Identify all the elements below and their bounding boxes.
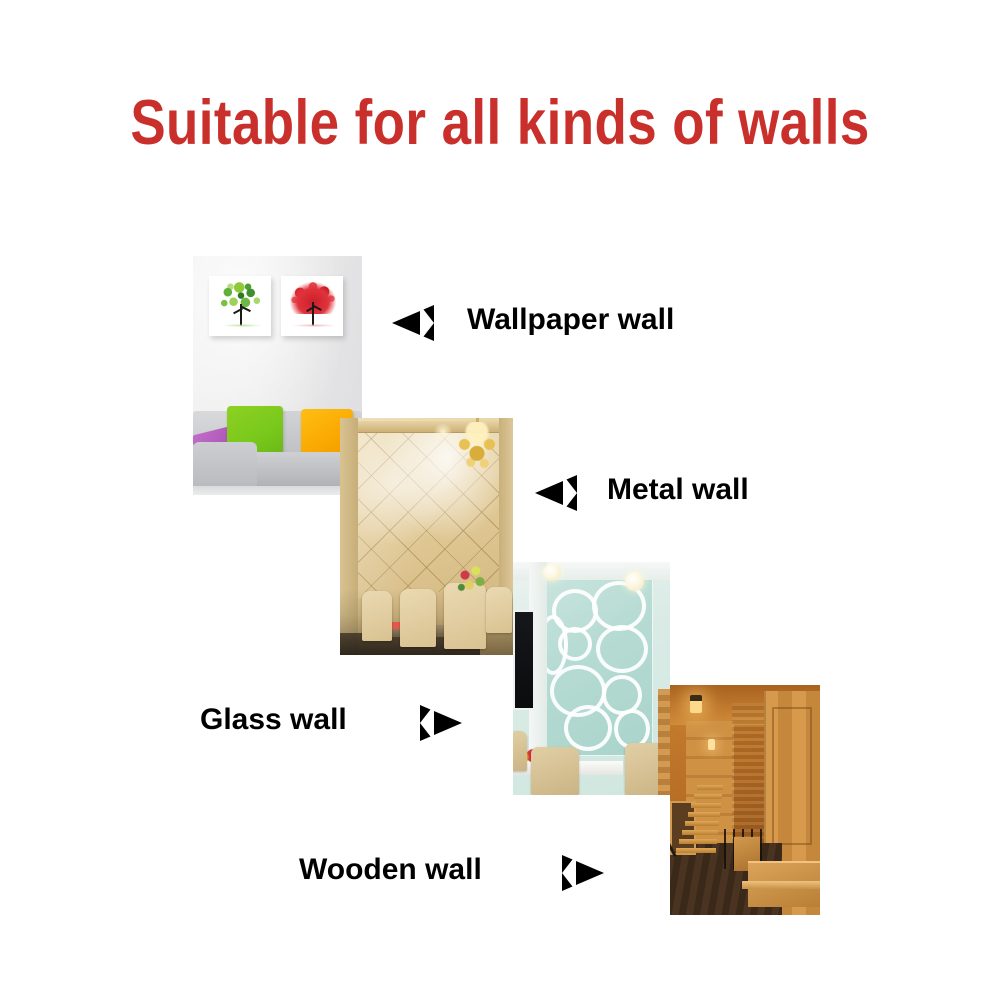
label-wallpaper-wall: Wallpaper wall (467, 303, 674, 337)
glass-room-chair-2 (531, 747, 579, 795)
arrow-notch (420, 705, 434, 741)
art-green-inner (211, 278, 269, 334)
photo-metal-wall (340, 418, 513, 655)
wall-sconce-icon (690, 695, 702, 713)
label-glass-wall: Glass wall (200, 703, 347, 737)
left-arrow-icon-metal (535, 475, 577, 511)
glass-room-chair-1 (513, 731, 527, 771)
dining-chair-4 (486, 587, 512, 633)
right-arrow-icon-wooden (562, 855, 604, 891)
canvas-art-red-tree (281, 276, 343, 336)
flower-bouquet (456, 565, 486, 601)
arrow-notch (420, 305, 434, 341)
sofa-floor-base (193, 486, 362, 495)
sofa-armrest (193, 442, 257, 489)
photo-wooden-wall (670, 685, 820, 915)
green-tree-ground-shadow (223, 324, 261, 327)
canvas-art-green-tree (209, 276, 271, 336)
left-arrow-icon-wallpaper (392, 305, 434, 341)
glass-room-wood-edge (658, 689, 670, 795)
right-arrow-icon-glass (420, 705, 462, 741)
pendant-globe-1 (543, 564, 561, 581)
photo-glass-wall (513, 562, 670, 795)
arrow-notch (562, 855, 576, 891)
dining-chair-1 (362, 591, 392, 641)
dining-chair-2 (400, 589, 436, 647)
poster-canvas: Suitable for all kinds of walls (0, 0, 1000, 1000)
label-metal-wall: Metal wall (607, 473, 749, 507)
photo-wallpaper-wall (193, 256, 362, 495)
art-red-inner (283, 278, 341, 334)
wall-sconce-secondary-icon (708, 739, 715, 750)
label-wooden-wall: Wooden wall (299, 853, 482, 887)
glass-swirl-pattern (544, 579, 652, 755)
page-title: Suitable for all kinds of walls (80, 88, 920, 158)
pendant-globe-2 (625, 572, 644, 591)
red-tree-ground-shadow (293, 324, 335, 327)
glass-room-dark-doorway (513, 610, 535, 710)
glass-panel (543, 578, 653, 756)
arrow-notch (563, 475, 577, 511)
wood-bench-seat (742, 881, 820, 889)
chandelier-icon (451, 422, 503, 478)
